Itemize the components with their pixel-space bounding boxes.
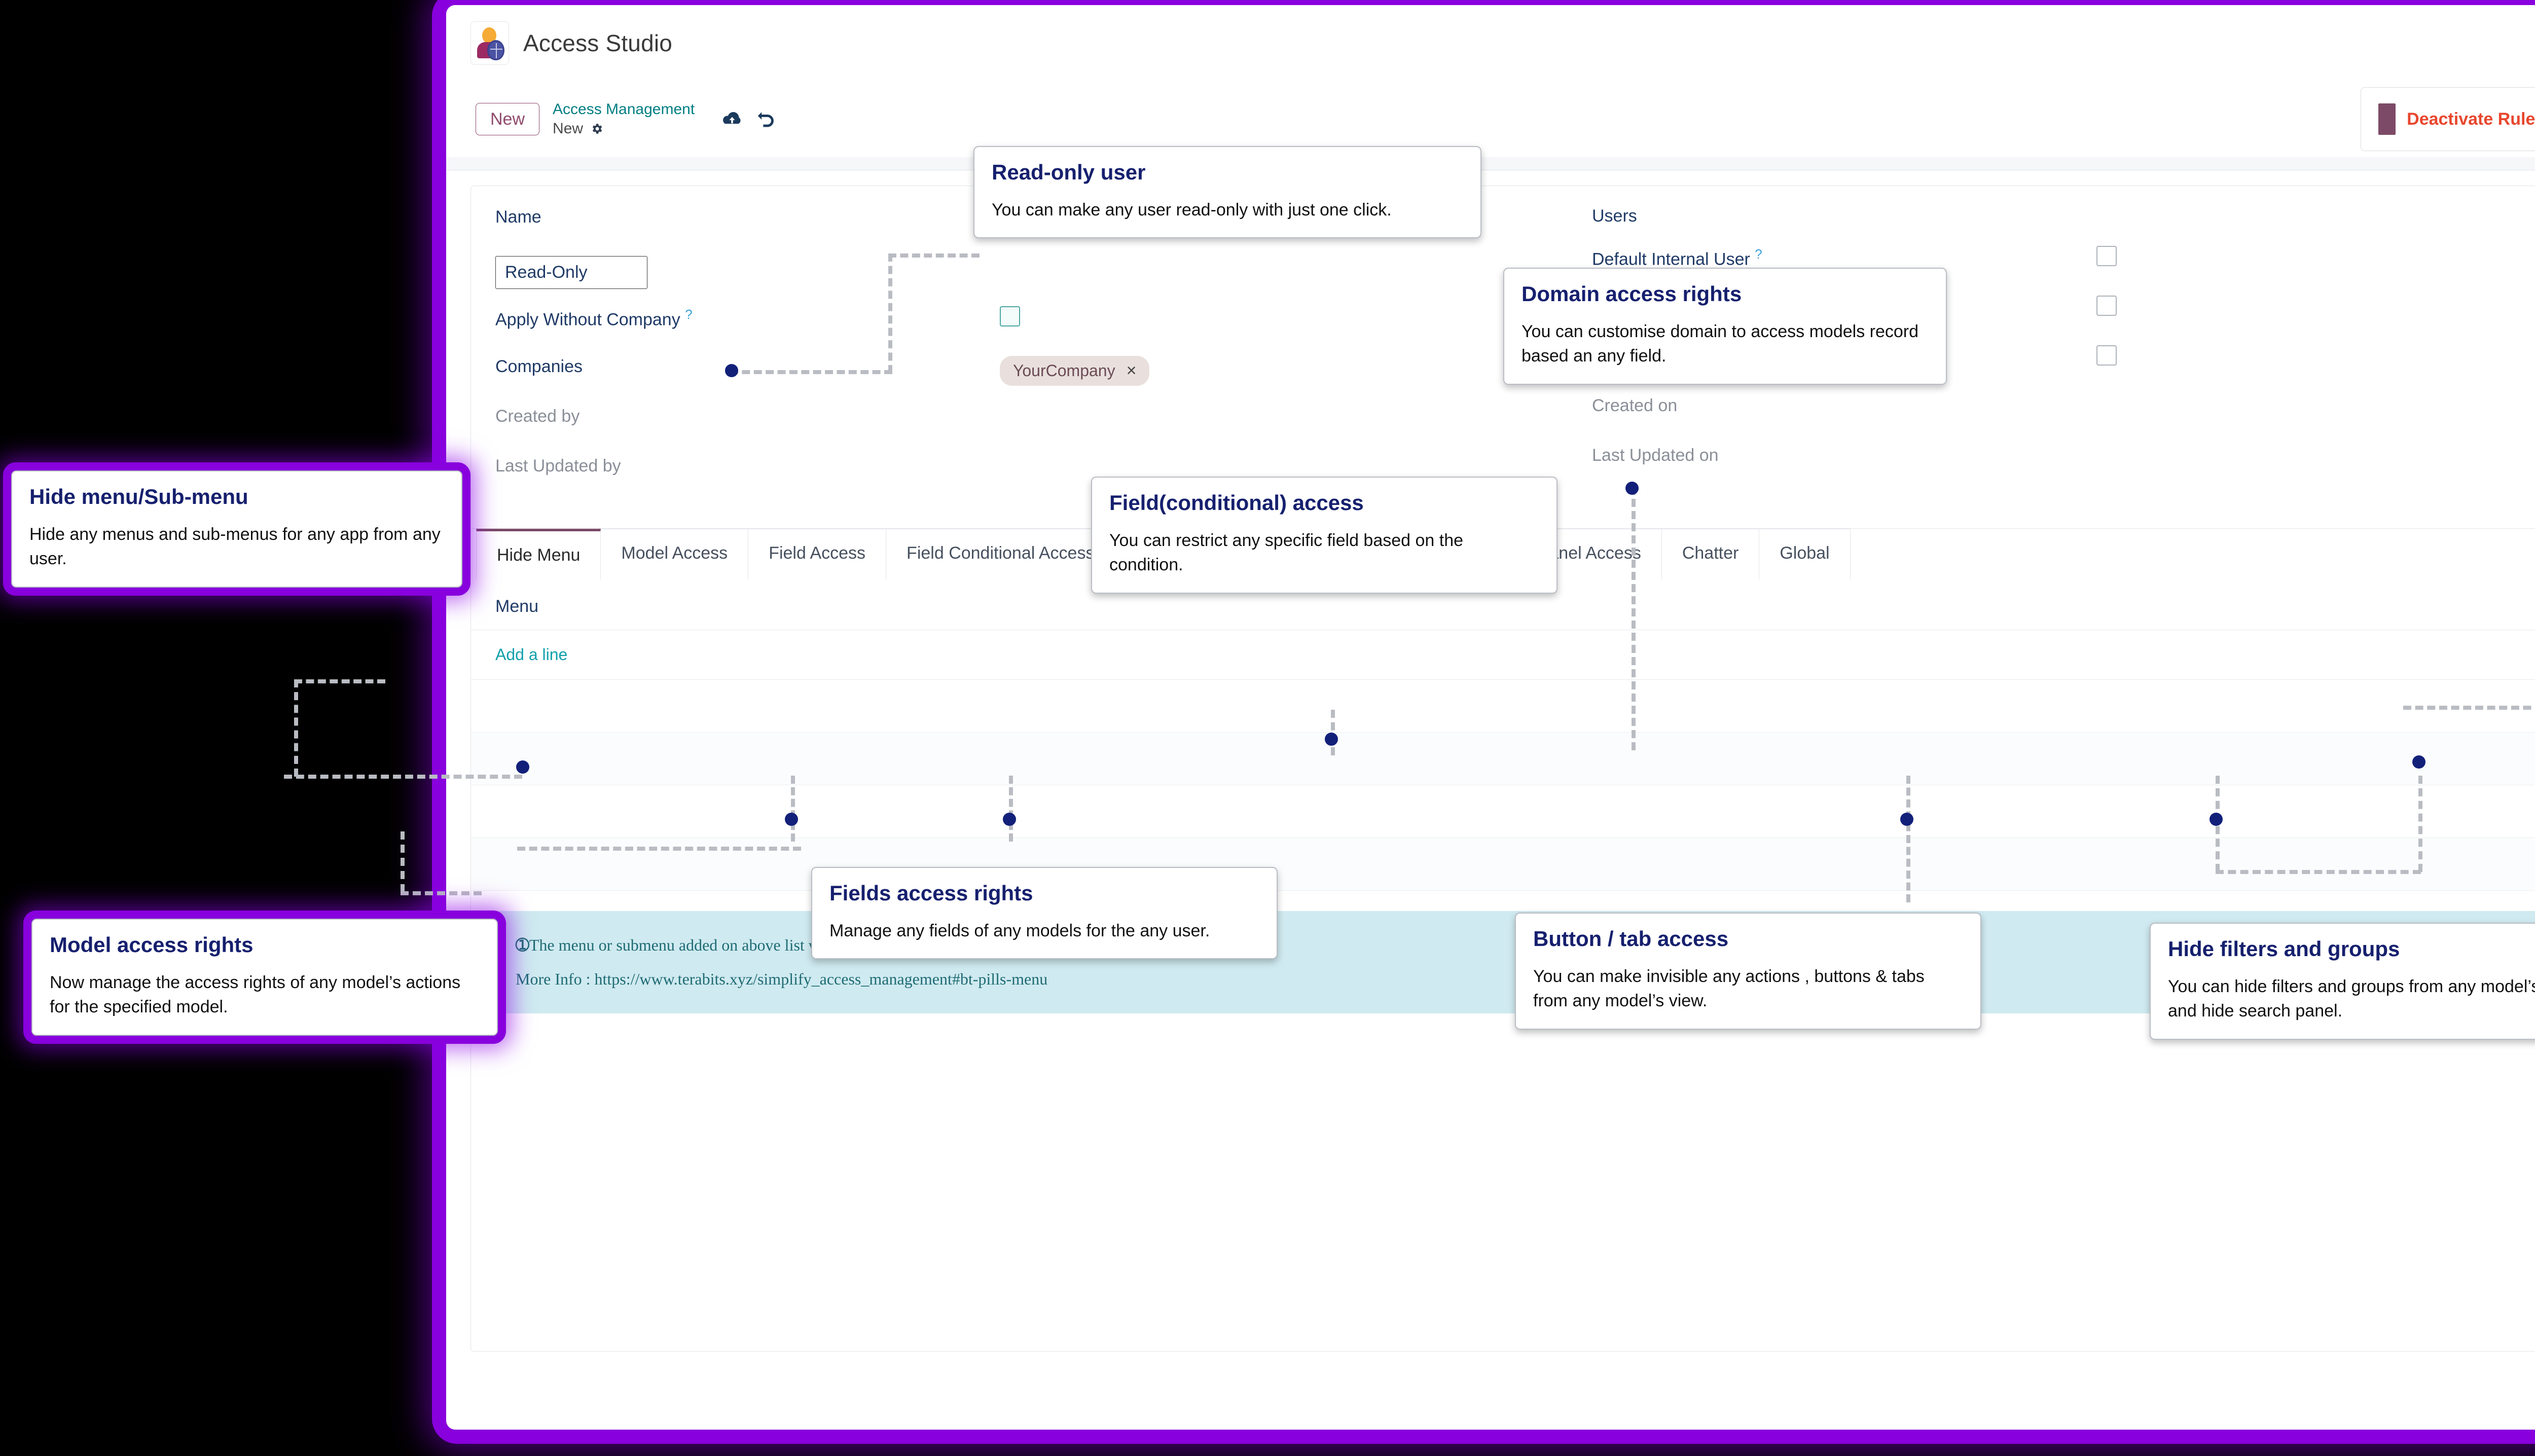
field-last-updated-on-row: Last Updated on xyxy=(1592,445,2535,477)
callout-title: Hide filters and groups xyxy=(2168,937,2535,961)
callout-title: Button / tab access xyxy=(1533,927,1963,951)
field-companies-row: Companies YourCompany × xyxy=(495,356,1592,388)
connector-line xyxy=(517,847,801,851)
callout-fields-access-rights: Fields access rights Manage any fields o… xyxy=(811,867,1278,959)
callout-body: Now manage the access rights of any mode… xyxy=(50,970,480,1020)
connector-dot xyxy=(785,813,798,826)
callout-body: You can customise domain to access model… xyxy=(1522,319,1929,369)
connector-line xyxy=(284,775,522,779)
connector-line xyxy=(2403,706,2535,710)
screenshot-root: Access Studio New Access Management New xyxy=(0,0,2535,1456)
connector-dot xyxy=(2210,813,2223,826)
last-updated-by-label: Last Updated by xyxy=(495,455,1000,477)
field-apply-without-company-row: Apply Without Company ? xyxy=(495,306,1592,339)
tab-field-access[interactable]: Field Access xyxy=(748,529,886,579)
connector-line xyxy=(2216,870,2421,874)
deactivate-swatch xyxy=(2378,103,2396,135)
statusbar-buttons: Deactivate Rule Access Rules 0 xyxy=(2361,87,2535,152)
apply-without-company-label: Apply Without Company ? xyxy=(495,306,1000,331)
callout-field-conditional-access: Field(conditional) access You can restri… xyxy=(1091,477,1558,594)
connector-line xyxy=(294,679,385,683)
sheet-top-band xyxy=(446,157,2535,170)
connector-line xyxy=(401,891,482,895)
default-internal-user-checkbox[interactable] xyxy=(2096,246,2117,266)
created-on-label: Created on xyxy=(1592,395,2096,417)
apply-without-company-checkbox[interactable] xyxy=(1000,306,1020,326)
deactivate-rule-button[interactable]: Deactivate Rule xyxy=(2361,88,2535,151)
name-label: Name xyxy=(495,206,1000,228)
callout-model-access-rights: Model access rights Now manage the acces… xyxy=(31,919,498,1036)
company-tag-label: YourCompany xyxy=(1013,361,1115,380)
cloud-upload-icon[interactable] xyxy=(721,111,743,128)
field-created-by-row: Created by xyxy=(495,406,1592,438)
callout-body: You can hide filters and groups from any… xyxy=(2168,974,2535,1024)
companies-label: Companies xyxy=(495,356,1000,378)
default-portal-user-checkbox[interactable] xyxy=(2096,296,2117,316)
connector-line xyxy=(888,253,980,258)
connector-line xyxy=(1632,487,1636,750)
info-circle-icon: ➀ xyxy=(516,936,529,954)
breadcrumb-parent[interactable]: Access Management xyxy=(553,101,695,118)
connector-dot xyxy=(2412,755,2425,769)
connector-dot xyxy=(1003,813,1016,826)
deactivate-rule-label: Deactivate Rule xyxy=(2407,110,2535,129)
created-by-label: Created by xyxy=(495,406,1000,427)
table-row[interactable] xyxy=(471,733,2535,785)
callout-body: You can make invisible any actions , but… xyxy=(1533,964,1963,1013)
callout-title: Hide menu/Sub-menu xyxy=(29,485,444,509)
help-icon[interactable]: ? xyxy=(685,307,692,322)
name-input[interactable]: Read-Only xyxy=(495,256,647,289)
callout-hide-filters-and-groups: Hide filters and groups You can hide fil… xyxy=(2150,923,2535,1040)
connector-line xyxy=(1009,776,1013,842)
odoo-app-window: Access Studio New Access Management New xyxy=(446,5,2535,1430)
table-row[interactable] xyxy=(471,838,2535,891)
user-globe-icon xyxy=(470,21,509,65)
form-left-column: Name Read-Only Apply Without Company ? C… xyxy=(495,206,1592,505)
help-icon[interactable]: ? xyxy=(1755,246,1762,262)
callout-read-only-user: Read-only user You can make any user rea… xyxy=(973,146,1481,238)
app-title: Access Studio xyxy=(523,29,672,57)
breadcrumb: Access Management New xyxy=(553,101,695,137)
field-created-on-row: Created on xyxy=(1592,395,2535,427)
callout-button-tab-access: Button / tab access You can make invisib… xyxy=(1515,913,1981,1030)
close-icon[interactable]: × xyxy=(1127,361,1137,381)
add-a-line-link[interactable]: Add a line xyxy=(471,630,2535,680)
record-actions xyxy=(721,110,777,128)
callout-title: Domain access rights xyxy=(1522,282,1929,306)
disable-developer-mode-checkbox[interactable] xyxy=(2096,345,2117,366)
callout-title: Read-only user xyxy=(992,160,1463,185)
tab-model-access[interactable]: Model Access xyxy=(601,529,748,579)
table-row[interactable] xyxy=(471,785,2535,838)
form-sheet: Name Read-Only Apply Without Company ? C… xyxy=(470,186,2535,1352)
undo-icon[interactable] xyxy=(756,110,777,128)
company-tag[interactable]: YourCompany × xyxy=(1000,356,1149,386)
tab-field-conditional-access[interactable]: Field Conditional Access xyxy=(886,529,1115,579)
default-internal-user-label: Default Internal User ? xyxy=(1592,246,2096,270)
connector-line xyxy=(1906,776,1910,902)
connector-line xyxy=(791,776,795,842)
callout-body: You can make any user read-only with jus… xyxy=(992,198,1463,222)
breadcrumb-current: New xyxy=(553,120,583,137)
callout-title: Field(conditional) access xyxy=(1109,491,1539,515)
connector-line xyxy=(401,831,405,892)
breadcrumb-current-wrap: New xyxy=(553,120,695,137)
connector-dot xyxy=(1325,733,1338,746)
connector-line xyxy=(730,370,892,374)
table-row[interactable] xyxy=(471,680,2535,733)
callout-title: Fields access rights xyxy=(829,881,1259,905)
callout-domain-access-rights: Domain access rights You can customise d… xyxy=(1503,268,1947,385)
field-name-row: Read-Only xyxy=(495,256,1592,289)
connector-dot xyxy=(725,364,738,377)
callout-hide-menu-submenu: Hide menu/Sub-menu Hide any menus and su… xyxy=(11,470,462,588)
tab-global[interactable]: Global xyxy=(1759,529,1850,579)
callout-body: You can restrict any specific field base… xyxy=(1109,528,1539,577)
users-group-title: Users xyxy=(1592,206,2535,228)
gear-icon[interactable] xyxy=(590,122,603,135)
connector-dot xyxy=(516,760,529,774)
connector-line xyxy=(888,253,892,373)
callout-body: Hide any menus and sub-menus for any app… xyxy=(29,522,444,571)
notebook-page-hide-menu: Menu Add a line xyxy=(471,579,2535,891)
control-panel: New Access Management New xyxy=(446,81,2535,157)
last-updated-on-label: Last Updated on xyxy=(1592,445,2096,466)
callout-title: Model access rights xyxy=(50,933,480,957)
callout-body: Manage any fields of any models for the … xyxy=(829,919,1259,943)
tab-chatter[interactable]: Chatter xyxy=(1662,529,1760,579)
connector-dot xyxy=(1900,813,1913,826)
connector-dot xyxy=(1625,482,1639,495)
new-button[interactable]: New xyxy=(476,103,539,135)
app-navbar: Access Studio xyxy=(446,5,2535,81)
connector-line xyxy=(2418,776,2422,872)
connector-line xyxy=(294,679,298,777)
tab-hide-menu[interactable]: Hide Menu xyxy=(476,529,601,579)
